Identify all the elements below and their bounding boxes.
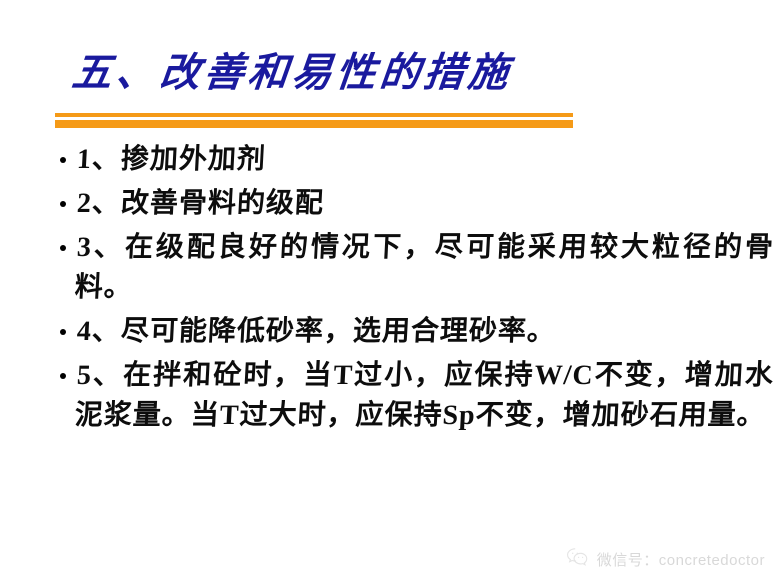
bullet-dot-icon [60,356,78,379]
list-item-text: 4、尽可能降低砂率，选用合理砂率。 [76,312,775,352]
list-item: 5、在拌和砼时，当T过小，应保持W/C不变，增加水泥浆量。当T过大时，应保持Sp… [60,356,775,436]
list-item: 2、改善骨料的级配 [60,184,775,224]
page-title: 五、改善和易性的措施 [69,46,515,100]
list-item: 4、尽可能降低砂率，选用合理砂率。 [60,312,775,352]
list-item-text: 5、在拌和砼时，当T过小，应保持W/C不变，增加水泥浆量。当T过大时，应保持Sp… [74,356,775,436]
bullet-list: 1、掺加外加剂 2、改善骨料的级配 3、在级配良好的情况下，尽可能采用较大粒径的… [60,140,775,440]
title-divider [55,113,573,128]
bullet-dot-icon [60,312,78,335]
title-block: 五、改善和易性的措施 [0,46,783,112]
slide-canvas: 五、改善和易性的措施 1、掺加外加剂 2、改善骨料的级配 3、在级配良好的情况下… [0,0,783,588]
watermark-text: 微信号：concretedoctor [597,549,765,570]
list-item: 3、在级配良好的情况下，尽可能采用较大粒径的骨料。 [60,228,775,308]
footer-watermark: 微信号：concretedoctor [566,547,765,572]
list-item-text: 3、在级配良好的情况下，尽可能采用较大粒径的骨料。 [74,228,775,308]
list-item-text: 1、掺加外加剂 [76,140,775,180]
divider-thick-bar [55,120,573,128]
bullet-dot-icon [60,140,78,163]
bullet-dot-icon [60,184,78,207]
list-item-text: 2、改善骨料的级配 [76,184,775,224]
list-item: 1、掺加外加剂 [60,140,775,180]
wechat-icon [566,547,590,572]
bullet-dot-icon [60,228,78,251]
